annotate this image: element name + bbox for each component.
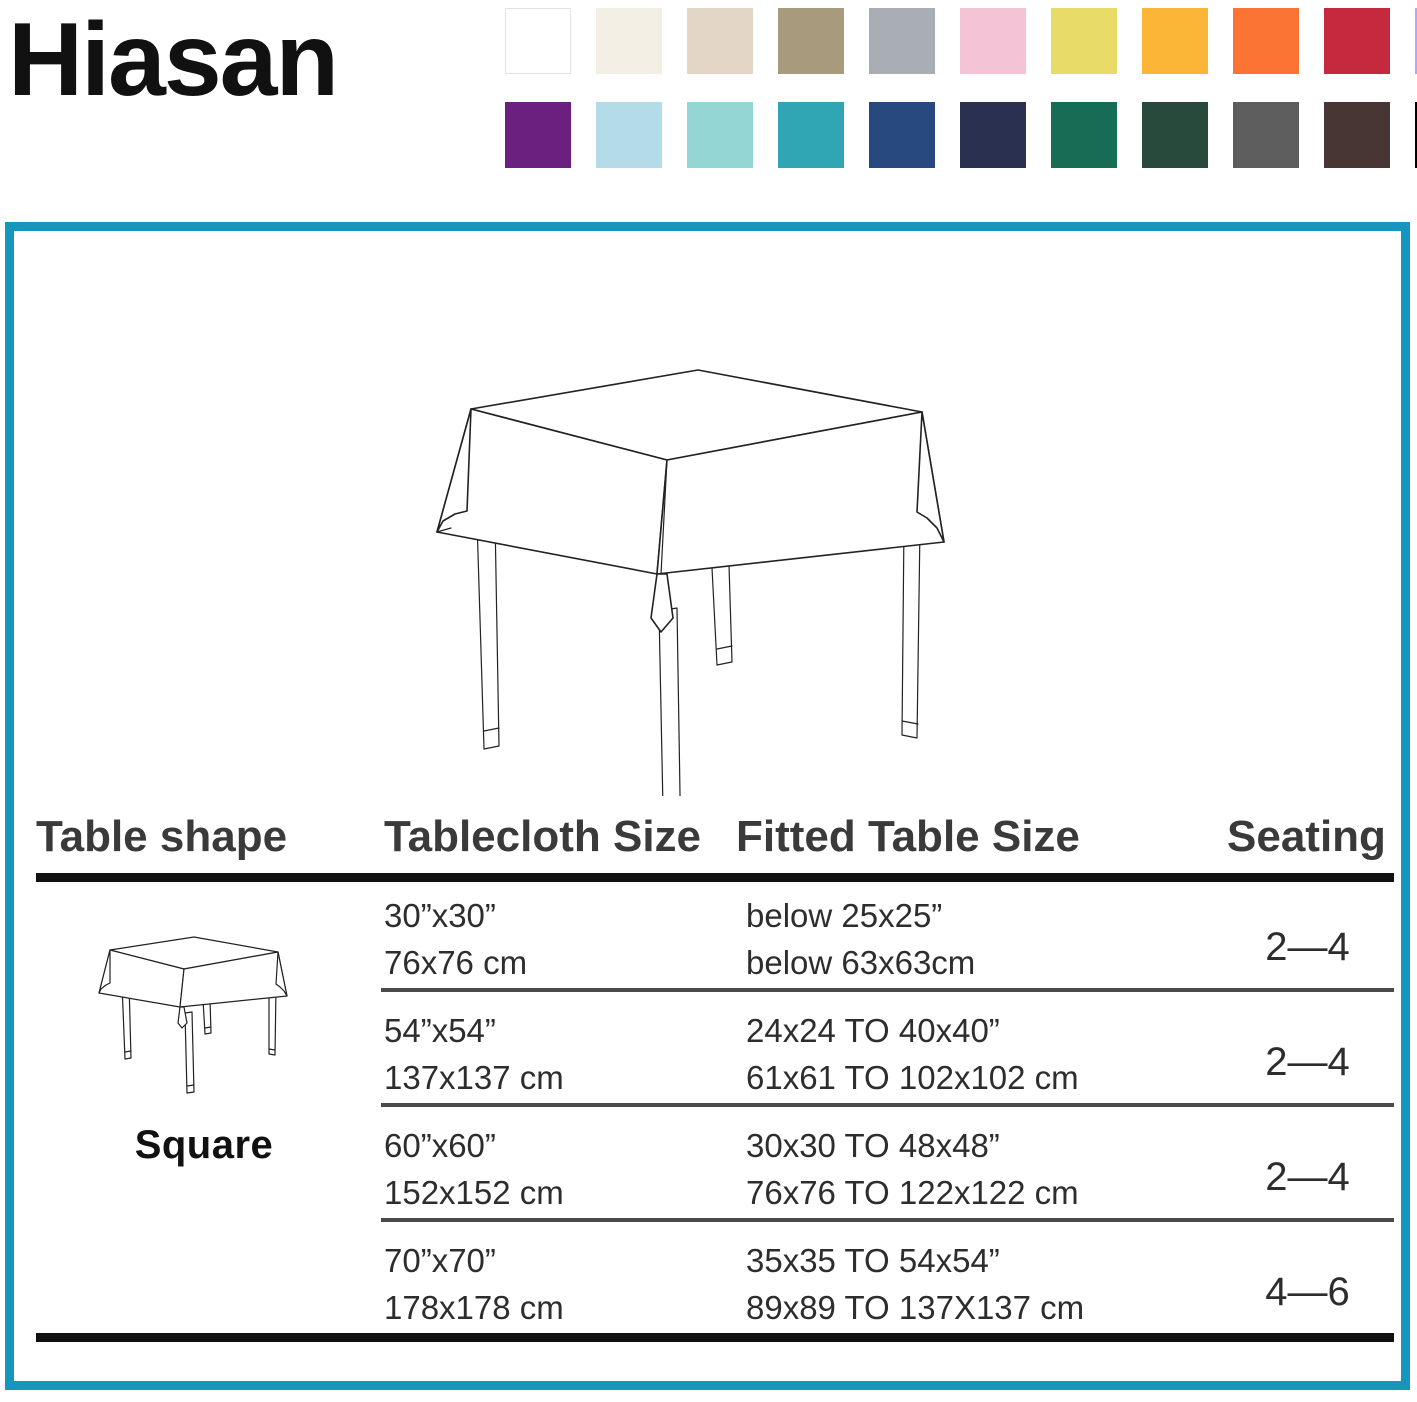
tablecloth-size-inches: 30”x30” bbox=[384, 893, 527, 940]
brand-header: Hiasan bbox=[0, 0, 1417, 200]
column-header-tablecloth-size: Tablecloth Size bbox=[384, 815, 701, 859]
fitted-size-cm: below 63x63cm bbox=[746, 940, 975, 987]
cell-fitted-table-size: 35x35 TO 54x54”89x89 TO 137X137 cm bbox=[746, 1238, 1084, 1332]
size-guide-card: Table shape Tablecloth Size Fitted Table… bbox=[5, 222, 1410, 1390]
table-shape-cell: Square bbox=[44, 931, 364, 1168]
tablecloth-size-cm: 178x178 cm bbox=[384, 1285, 564, 1332]
cell-tablecloth-size: 70”x70”178x178 cm bbox=[384, 1238, 564, 1332]
swatch-cell bbox=[960, 102, 1051, 168]
color-swatch-orange[interactable] bbox=[1233, 8, 1299, 74]
swatch-cell bbox=[505, 8, 596, 74]
swatch-cell bbox=[960, 8, 1051, 74]
color-swatch-pink[interactable] bbox=[960, 8, 1026, 74]
color-swatch-charcoal[interactable] bbox=[1233, 102, 1299, 168]
swatch-cell bbox=[869, 8, 960, 74]
swatch-cell bbox=[1051, 102, 1142, 168]
tablecloth-size-cm: 152x152 cm bbox=[384, 1170, 564, 1217]
row-divider bbox=[381, 1103, 1394, 1107]
fitted-size-inches: 30x30 TO 48x48” bbox=[746, 1123, 1079, 1170]
swatch-cell bbox=[1142, 102, 1233, 168]
tablecloth-size-cm: 76x76 cm bbox=[384, 940, 527, 987]
tablecloth-size-cm: 137x137 cm bbox=[384, 1055, 564, 1102]
row-divider bbox=[381, 988, 1394, 992]
color-swatch-taupe[interactable] bbox=[778, 8, 844, 74]
swatch-cell bbox=[687, 102, 778, 168]
cell-fitted-table-size: 24x24 TO 40x40”61x61 TO 102x102 cm bbox=[746, 1008, 1079, 1102]
color-swatch-row-2 bbox=[505, 102, 1417, 168]
cell-fitted-table-size: below 25x25”below 63x63cm bbox=[746, 893, 975, 987]
swatch-cell bbox=[778, 102, 869, 168]
color-swatch-dark-navy[interactable] bbox=[960, 102, 1026, 168]
cell-tablecloth-size: 60”x60”152x152 cm bbox=[384, 1123, 564, 1217]
tablecloth-size-inches: 60”x60” bbox=[384, 1123, 564, 1170]
swatch-cell bbox=[596, 102, 687, 168]
square-table-illustration bbox=[399, 346, 999, 796]
color-swatch-navy-blue[interactable] bbox=[869, 102, 935, 168]
color-swatch-beige[interactable] bbox=[687, 8, 753, 74]
header-rule bbox=[36, 873, 1394, 882]
fitted-size-cm: 76x76 TO 122x122 cm bbox=[746, 1170, 1079, 1217]
swatch-cell bbox=[505, 102, 596, 168]
swatch-cell bbox=[1051, 8, 1142, 74]
color-swatch-green[interactable] bbox=[1051, 102, 1117, 168]
swatch-cell bbox=[1324, 8, 1415, 74]
column-header-fitted-table-size: Fitted Table Size bbox=[736, 815, 1080, 859]
row-divider bbox=[381, 1218, 1394, 1222]
table-header-row: Table shape Tablecloth Size Fitted Table… bbox=[14, 811, 1401, 873]
color-swatch-row-1 bbox=[505, 8, 1417, 74]
fitted-size-cm: 89x89 TO 137X137 cm bbox=[746, 1285, 1084, 1332]
color-swatch-marigold[interactable] bbox=[1142, 8, 1208, 74]
color-swatch-ivory[interactable] bbox=[596, 8, 662, 74]
color-swatch-teal[interactable] bbox=[778, 102, 844, 168]
size-chart-table: Table shape Tablecloth Size Fitted Table… bbox=[14, 811, 1401, 1371]
tablecloth-size-inches: 70”x70” bbox=[384, 1238, 564, 1285]
cell-seating: 2—4 bbox=[1220, 1149, 1395, 1206]
table-shape-label: Square bbox=[44, 1123, 364, 1168]
fitted-size-cm: 61x61 TO 102x102 cm bbox=[746, 1055, 1079, 1102]
swatch-cell bbox=[1233, 8, 1324, 74]
cell-tablecloth-size: 54”x54”137x137 cm bbox=[384, 1008, 564, 1102]
swatch-cell bbox=[869, 102, 960, 168]
color-swatch-panel bbox=[505, 6, 1410, 176]
cell-tablecloth-size: 30”x30”76x76 cm bbox=[384, 893, 527, 987]
color-swatch-purple[interactable] bbox=[505, 102, 571, 168]
swatch-cell bbox=[1233, 102, 1324, 168]
fitted-size-inches: 35x35 TO 54x54” bbox=[746, 1238, 1084, 1285]
color-swatch-yellow[interactable] bbox=[1051, 8, 1117, 74]
cell-seating: 4—6 bbox=[1220, 1264, 1395, 1321]
cell-seating: 2—4 bbox=[1220, 1034, 1395, 1091]
color-swatch-dark-green[interactable] bbox=[1142, 102, 1208, 168]
color-swatch-red[interactable] bbox=[1324, 8, 1390, 74]
color-swatch-light-blue[interactable] bbox=[596, 102, 662, 168]
swatch-cell bbox=[1142, 8, 1233, 74]
square-table-with-tablecloth-icon bbox=[84, 931, 324, 1111]
color-swatch-gray[interactable] bbox=[869, 8, 935, 74]
fitted-size-inches: below 25x25” bbox=[746, 893, 975, 940]
swatch-cell bbox=[687, 8, 778, 74]
fitted-size-inches: 24x24 TO 40x40” bbox=[746, 1008, 1079, 1055]
color-swatch-aqua[interactable] bbox=[687, 102, 753, 168]
cell-fitted-table-size: 30x30 TO 48x48”76x76 TO 122x122 cm bbox=[746, 1123, 1079, 1217]
color-swatch-white[interactable] bbox=[505, 8, 571, 74]
column-header-table-shape: Table shape bbox=[36, 815, 287, 859]
tablecloth-size-inches: 54”x54” bbox=[384, 1008, 564, 1055]
cell-seating: 2—4 bbox=[1220, 919, 1395, 976]
color-swatch-dark-brown[interactable] bbox=[1324, 102, 1390, 168]
bottom-rule bbox=[36, 1333, 1394, 1342]
swatch-cell bbox=[778, 8, 869, 74]
brand-logo: Hiasan bbox=[8, 8, 337, 112]
swatch-cell bbox=[1324, 102, 1415, 168]
column-header-seating: Seating bbox=[1227, 815, 1386, 859]
swatch-cell bbox=[596, 8, 687, 74]
